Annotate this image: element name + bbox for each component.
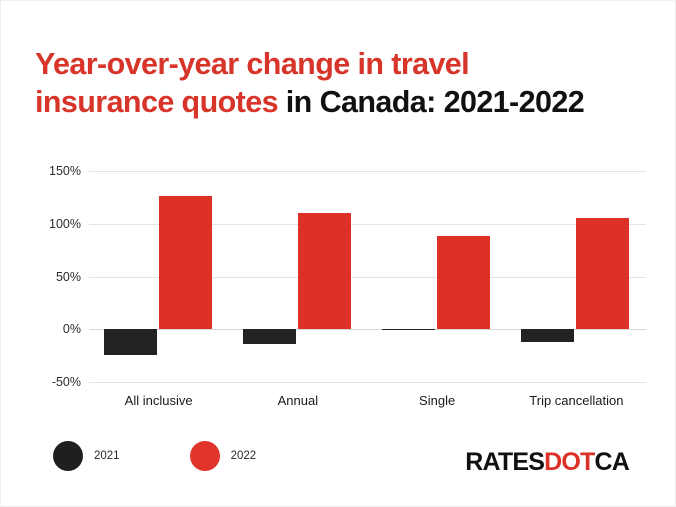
logo-ca: CA	[594, 448, 629, 476]
bar-2021-annual[interactable]	[243, 329, 296, 344]
legend-swatch-icon	[190, 441, 220, 471]
y-axis-tick-label: 50%	[15, 270, 81, 284]
legend-label: 2021	[94, 450, 120, 462]
bar-2022-annual[interactable]	[298, 213, 351, 329]
bar-group	[368, 171, 507, 382]
bar-2021-single[interactable]	[382, 329, 435, 330]
y-axis-tick-label: -50%	[15, 375, 81, 389]
chart-legend: 20212022	[53, 441, 326, 471]
bar-2022-all-inclusive[interactable]	[159, 196, 212, 329]
logo-rates: RATES	[465, 448, 544, 476]
bar-2022-trip-cancellation[interactable]	[576, 218, 629, 329]
x-axis-labels: All inclusiveAnnualSingleTrip cancellati…	[89, 393, 646, 408]
ratesdotca-logo: RATESDOTCA	[465, 450, 629, 475]
x-axis-tick-label: Single	[368, 393, 507, 408]
bar-group	[507, 171, 646, 382]
bar-2021-all-inclusive[interactable]	[104, 329, 157, 354]
logo-dot: DOT	[544, 448, 594, 476]
bar-groups	[89, 171, 646, 382]
y-axis-tick-label: 0%	[15, 322, 81, 336]
x-axis-tick-label: Trip cancellation	[507, 393, 646, 408]
bar-2021-trip-cancellation[interactable]	[521, 329, 574, 342]
infographic-canvas: Year-over-year change in travel insuranc…	[0, 0, 676, 507]
y-axis-tick-label: 150%	[15, 164, 81, 178]
legend-item-2022[interactable]: 2022	[190, 441, 257, 471]
x-axis-tick-label: Annual	[228, 393, 367, 408]
gridline	[89, 382, 646, 383]
legend-label: 2022	[231, 450, 257, 462]
x-axis-tick-label: All inclusive	[89, 393, 228, 408]
bar-chart: 150%100%50%0%-50% All inclusiveAnnualSin…	[1, 1, 676, 507]
bar-group	[228, 171, 367, 382]
bar-group	[89, 171, 228, 382]
legend-item-2021[interactable]: 2021	[53, 441, 120, 471]
bar-2022-single[interactable]	[437, 236, 490, 329]
legend-swatch-icon	[53, 441, 83, 471]
y-axis-tick-label: 100%	[15, 217, 81, 231]
